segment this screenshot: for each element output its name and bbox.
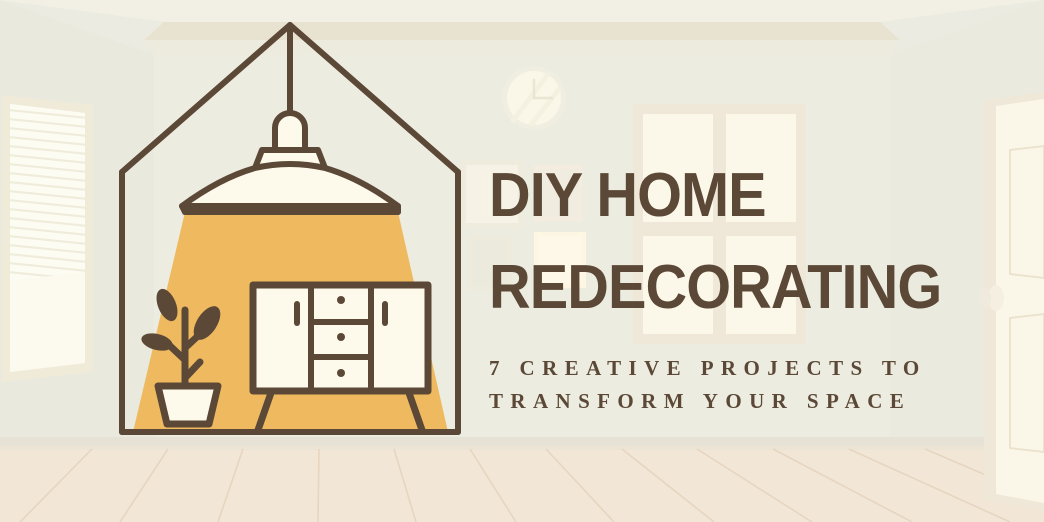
plant-pot — [158, 386, 218, 424]
lamp-socket — [275, 113, 305, 150]
subtitle-line-2: TRANSFORM YOUR SPACE — [489, 385, 999, 418]
subtitle-line-1: 7 CREATIVE PROJECTS TO — [489, 352, 999, 385]
headline-text-block: DIY HOME REDECORATING 7 CREATIVE PROJECT… — [489, 150, 999, 418]
pendant-lamp — [182, 113, 398, 212]
title-line-1: DIY HOME — [489, 150, 963, 242]
lamp-shade-dome — [182, 164, 398, 206]
lamp-shade-lip — [182, 206, 398, 212]
subtitle-block: 7 CREATIVE PROJECTS TO TRANSFORM YOUR SP… — [489, 352, 999, 418]
poster-canvas: DIY HOME REDECORATING 7 CREATIVE PROJECT… — [0, 0, 1044, 522]
title-line-2: REDECORATING — [489, 242, 963, 334]
